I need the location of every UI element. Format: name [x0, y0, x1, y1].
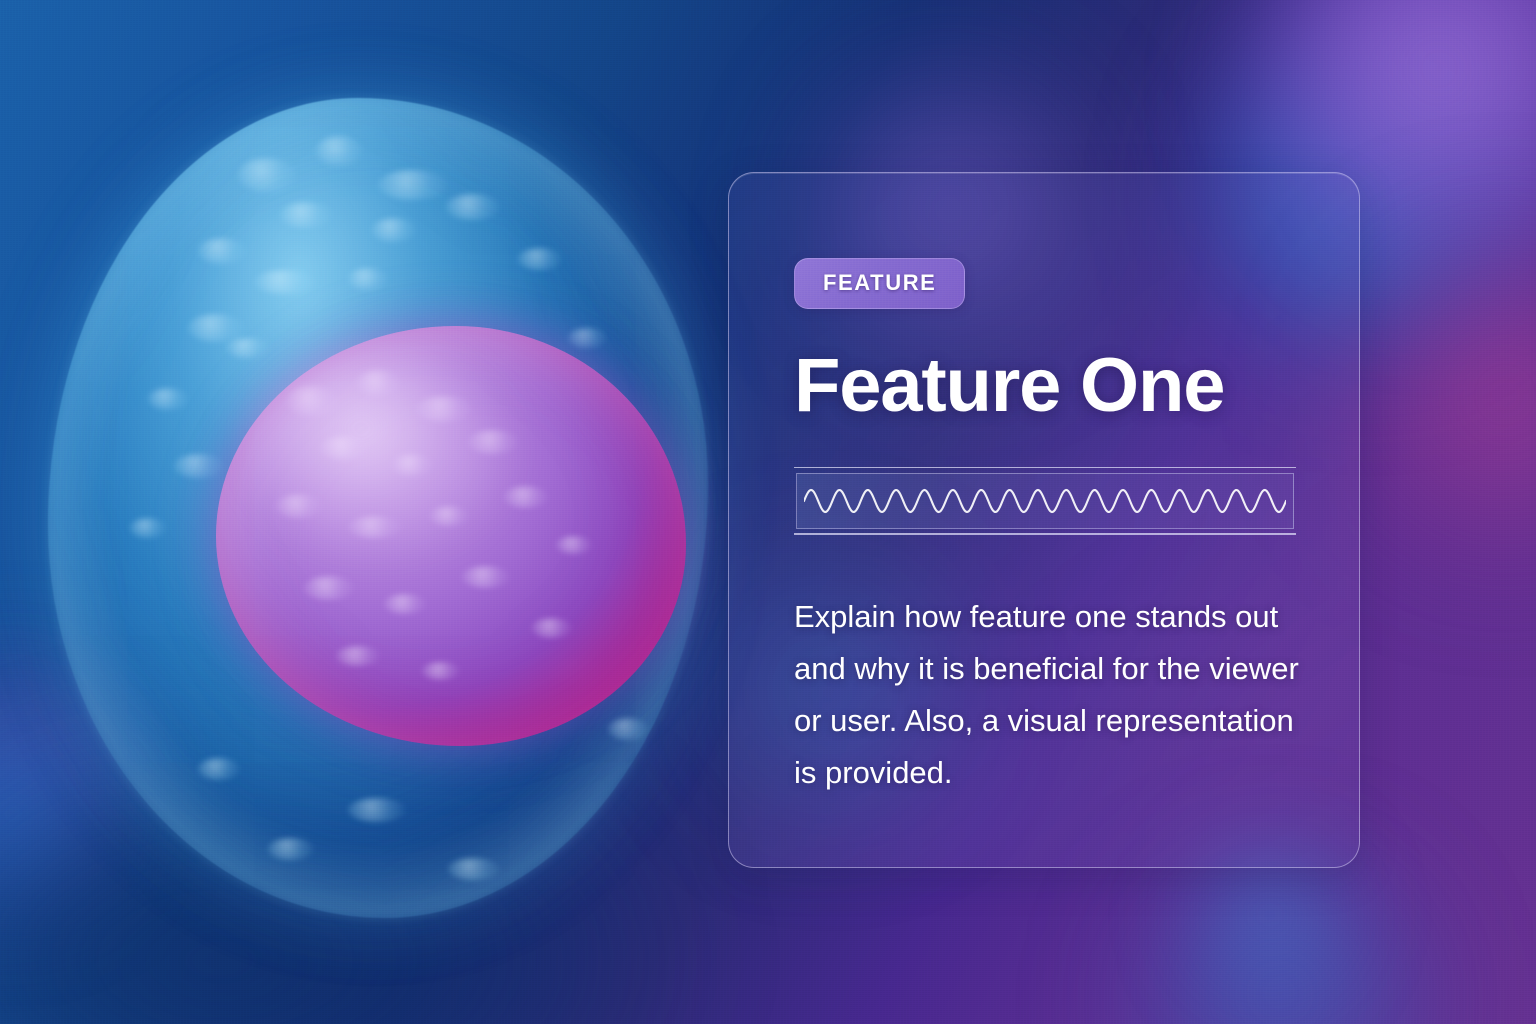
page-title: Feature One — [794, 347, 1311, 425]
waveform-rule-top — [794, 467, 1296, 469]
nucleus-highlight — [256, 356, 506, 546]
feature-hero-banner: FEATURE Feature One Explain how feature … — [0, 0, 1536, 1024]
feature-card-content: FEATURE Feature One Explain how feature … — [794, 258, 1311, 830]
waveform-panel — [794, 467, 1296, 535]
waveform-icon — [804, 481, 1286, 521]
cell-illustration — [20, 70, 720, 950]
feature-description: Explain how feature one stands out and w… — [794, 591, 1304, 799]
feature-card: FEATURE Feature One Explain how feature … — [728, 172, 1360, 868]
waveform-rule-bottom — [794, 533, 1296, 535]
feature-badge: FEATURE — [794, 258, 965, 309]
